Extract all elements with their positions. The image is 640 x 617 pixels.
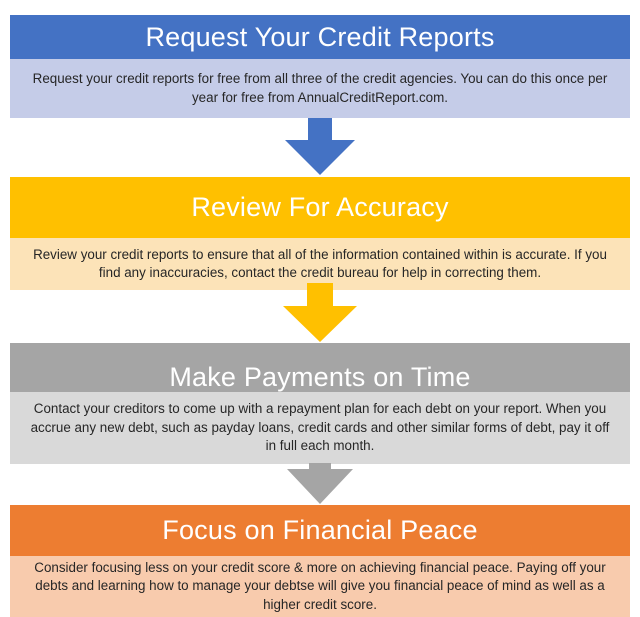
connector-arrow-2 <box>283 283 357 343</box>
step-3-heading: Make Payments on Time <box>10 343 630 392</box>
step-4-heading: Focus on Financial Peace <box>10 505 630 556</box>
down-arrow-icon <box>285 118 355 176</box>
down-arrow-icon <box>287 463 353 505</box>
step-4-body: Consider focusing less on your credit sc… <box>10 556 630 617</box>
step-4-body-text: Consider focusing less on your credit sc… <box>24 559 616 615</box>
flow-step-1: Request Your Credit Reports Request your… <box>10 15 630 118</box>
credit-repair-flow-infographic: Request Your Credit Reports Request your… <box>0 0 640 617</box>
flow-step-3: Make Payments on Time Contact your credi… <box>10 343 630 464</box>
connector-arrow-1 <box>285 118 355 176</box>
down-arrow-icon <box>283 283 357 343</box>
step-2-heading: Review For Accuracy <box>10 177 630 238</box>
step-1-heading: Request Your Credit Reports <box>10 15 630 59</box>
step-3-body-text: Contact your creditors to come up with a… <box>24 400 616 456</box>
connector-arrow-3 <box>287 463 353 505</box>
step-2-body-text: Review your credit reports to ensure tha… <box>24 246 616 283</box>
flow-step-4: Focus on Financial Peace Consider focusi… <box>10 505 630 617</box>
step-1-body-text: Request your credit reports for free fro… <box>24 70 616 107</box>
step-1-body: Request your credit reports for free fro… <box>10 59 630 118</box>
flow-step-2: Review For Accuracy Review your credit r… <box>10 177 630 290</box>
step-3-body: Contact your creditors to come up with a… <box>10 392 630 464</box>
